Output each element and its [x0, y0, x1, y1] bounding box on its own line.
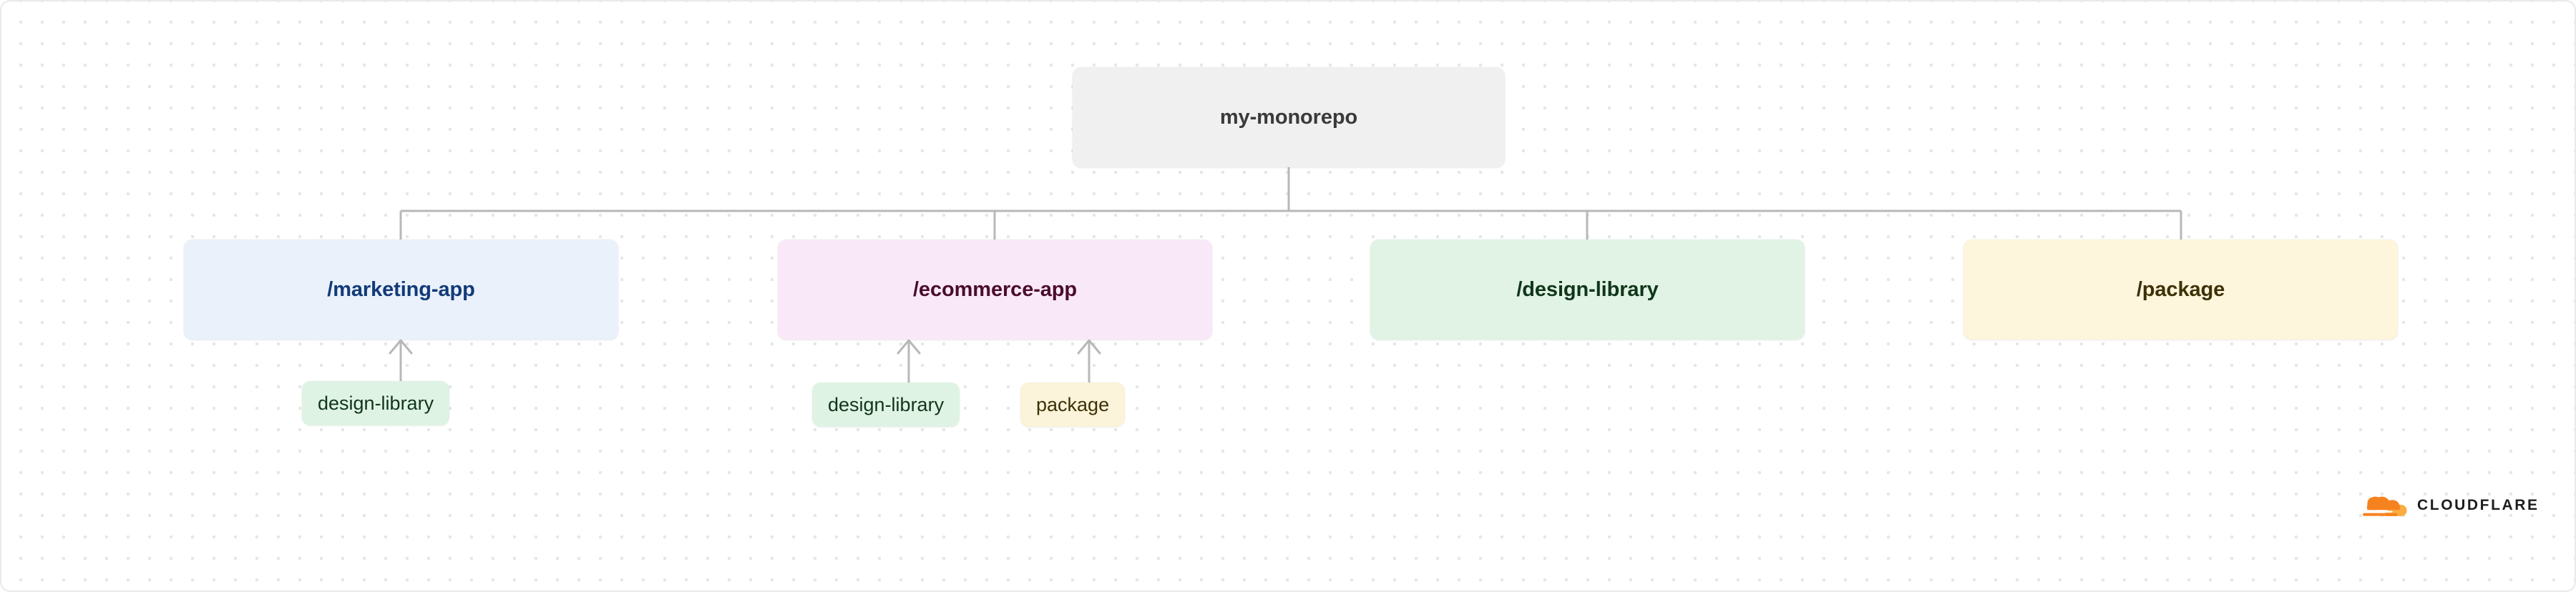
- cloudflare-cloud-icon: [2363, 493, 2407, 518]
- node-label-my-monorepo: my-monorepo: [1220, 106, 1357, 129]
- node-design-library[interactable]: /design-library: [1370, 240, 1805, 340]
- node-label-marketing-app: /marketing-app: [327, 278, 474, 302]
- dep-arrow-marketing-design: [390, 340, 411, 353]
- node-label-package: /package: [2137, 278, 2225, 302]
- node-package[interactable]: /package: [1963, 240, 2398, 340]
- dependency-tag-label: design-library: [828, 394, 944, 416]
- dep-arrow-ecommerce-design: [898, 340, 919, 353]
- dependency-tag-label: package: [1036, 394, 1109, 416]
- cloudflare-logo: CLOUDFLARE: [2363, 493, 2540, 518]
- node-label-design-library: /design-library: [1516, 278, 1658, 302]
- node-label-ecommerce-app: /ecommerce-app: [913, 278, 1077, 302]
- node-marketing-app[interactable]: /marketing-app: [184, 240, 618, 340]
- cloudflare-wordmark: CLOUDFLARE: [2417, 497, 2540, 514]
- node-ecommerce-app[interactable]: /ecommerce-app: [778, 240, 1212, 340]
- dependency-tag-marketing-design-library[interactable]: design-library: [302, 381, 449, 425]
- node-my-monorepo[interactable]: my-monorepo: [1073, 67, 1505, 167]
- dependency-tag-ecommerce-package[interactable]: package: [1020, 383, 1125, 427]
- dependency-tag-label: design-library: [318, 393, 434, 415]
- diagram-canvas: my-monorepo /marketing-app /ecommerce-ap…: [0, 0, 2576, 592]
- dep-arrow-ecommerce-package: [1078, 340, 1100, 353]
- dependency-tag-ecommerce-design-library[interactable]: design-library: [812, 383, 960, 427]
